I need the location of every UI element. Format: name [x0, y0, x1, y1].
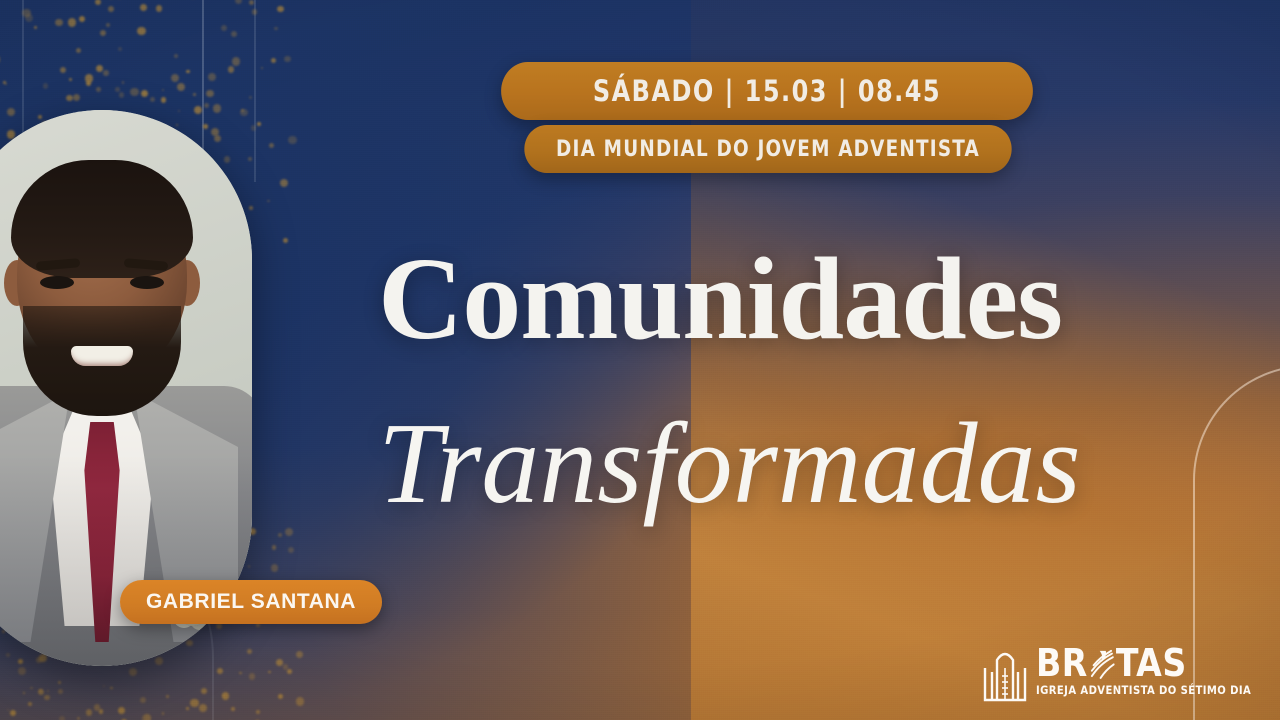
logo-word-after: TAS: [1116, 644, 1187, 682]
title-block: Comunidades Transformadas: [378, 240, 1178, 522]
event-date-badge: SÁBADO | 15.03 | 08.45: [501, 62, 1033, 120]
speaker-name-badge: GABRIEL SANTANA: [120, 580, 382, 624]
promo-graphic: SÁBADO | 15.03 | 08.45 DIA MUNDIAL DO JO…: [0, 0, 1280, 720]
logo-tagline: IGREJA ADVENTISTA DO SÉTIMO DIA: [1036, 685, 1251, 697]
event-subtitle-badge: DIA MUNDIAL DO JOVEM ADVENTISTA: [524, 125, 1011, 173]
logo-word-before: BR: [1036, 644, 1088, 682]
logo-text-block: BR TAS IGREJA ADVENTISTA DO SÉTIMO DIA: [1036, 644, 1258, 697]
title-line-1: Comunidades: [378, 240, 1178, 358]
title-line-2: Transformadas: [378, 406, 1178, 522]
logo-wordmark: BR TAS: [1036, 644, 1251, 682]
church-logo: BR TAS IGREJA ADVENTISTA DO SÉTIMO DIA: [983, 644, 1258, 702]
adventist-flame-icon: [1089, 648, 1115, 679]
church-building-icon: [983, 646, 1027, 702]
